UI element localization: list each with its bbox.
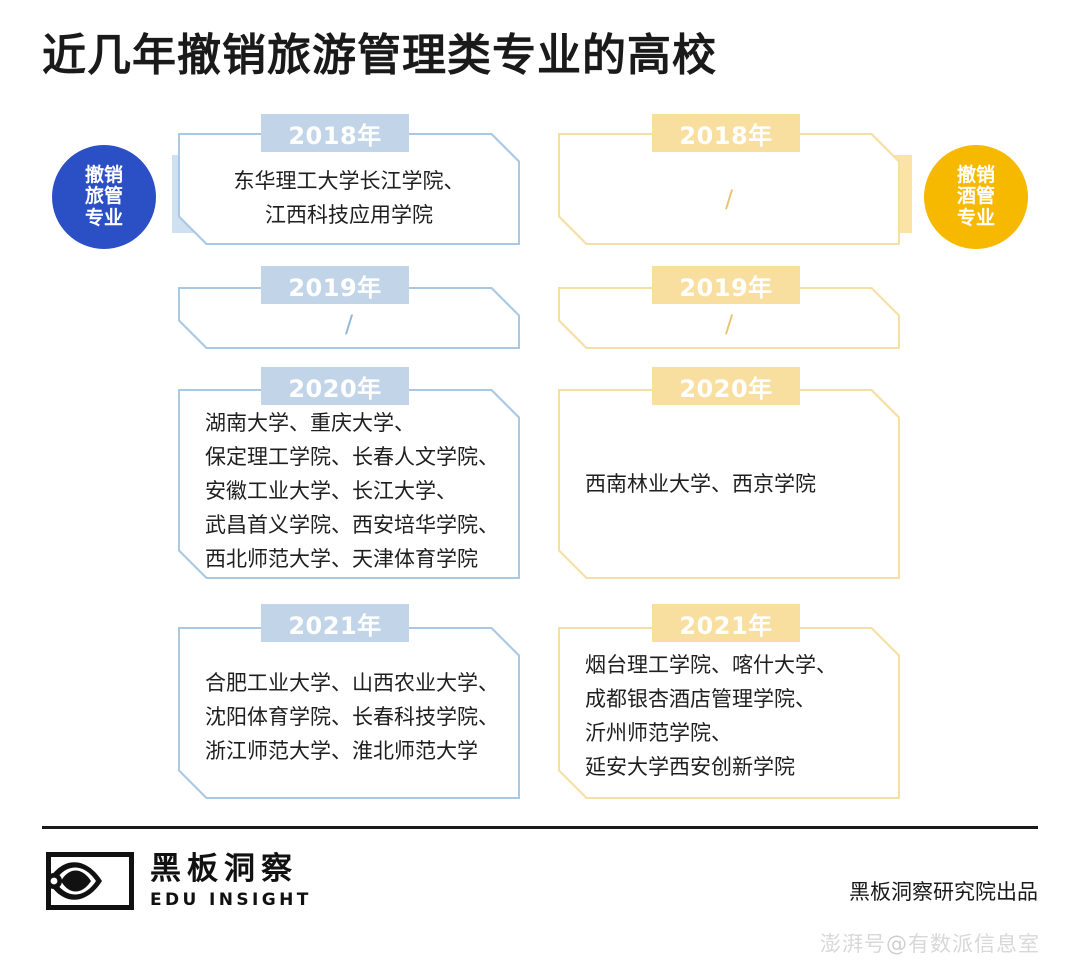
card-left-2019-placeholder: /	[345, 312, 353, 336]
card-right-2020: 西南林业大学、西京学院	[558, 389, 900, 579]
year-tab-right-2021: 2021年	[652, 604, 800, 642]
watermark-name: 有数派信息室	[908, 932, 1040, 956]
card-left-2020-line-1: 湖南大学、重庆大学、	[205, 406, 520, 440]
card-left-2021-line-3: 浙江师范大学、淮北师范大学	[205, 734, 520, 768]
year-tab-right-2020: 2020年	[652, 367, 800, 405]
card-left-2020: 湖南大学、重庆大学、 保定理工学院、长春人文学院、 安徽工业大学、长江大学、 武…	[178, 389, 520, 579]
card-left-2018-line-2: 江西科技应用学院	[265, 198, 433, 232]
year-tab-left-2019: 2019年	[261, 266, 409, 304]
watermark-at: @	[886, 932, 908, 956]
card-left-2020-line-5: 西北师范大学、天津体育学院	[205, 542, 520, 576]
watermark: 澎湃号@有数派信息室	[820, 928, 1040, 958]
year-tab-left-2021: 2021年	[261, 604, 409, 642]
badge-left-tourism-management: 撤销 旅管 专业	[52, 145, 156, 249]
card-right-2021: 烟台理工学院、喀什大学、 成都银杏酒店管理学院、 沂州师范学院、 延安大学西安创…	[558, 627, 900, 799]
card-left-2020-body: 湖南大学、重庆大学、 保定理工学院、长春人文学院、 安徽工业大学、长江大学、 武…	[178, 389, 520, 579]
brand-logo-text: 黑板洞察 EDU INSIGHT	[150, 854, 312, 909]
card-right-2020-line-1: 西南林业大学、西京学院	[585, 467, 900, 501]
card-right-2021-body: 烟台理工学院、喀什大学、 成都银杏酒店管理学院、 沂州师范学院、 延安大学西安创…	[558, 627, 900, 799]
badge-left-line-3: 专业	[85, 208, 123, 229]
card-left-2021: 合肥工业大学、山西农业大学、 沈阳体育学院、长春科技学院、 浙江师范大学、淮北师…	[178, 627, 520, 799]
watermark-prefix: 澎湃号	[820, 932, 886, 956]
footer-divider	[42, 826, 1038, 829]
card-right-2021-line-2: 成都银杏酒店管理学院、	[585, 682, 900, 716]
card-right-2019-placeholder: /	[725, 312, 733, 336]
badge-left-line-2: 旅管	[85, 186, 123, 207]
card-left-2021-body: 合肥工业大学、山西农业大学、 沈阳体育学院、长春科技学院、 浙江师范大学、淮北师…	[178, 627, 520, 799]
badge-right-hotel-management: 撤销 酒管 专业	[924, 145, 1028, 249]
card-left-2021-line-1: 合肥工业大学、山西农业大学、	[205, 666, 520, 700]
card-left-2018-line-1: 东华理工大学长江学院、	[234, 164, 465, 198]
badge-right-line-2: 酒管	[957, 186, 995, 207]
badge-right-line-3: 专业	[957, 208, 995, 229]
card-left-2020-line-3: 安徽工业大学、长江大学、	[205, 474, 520, 508]
badge-right-line-1: 撤销	[957, 165, 995, 186]
year-tab-left-2018: 2018年	[261, 114, 409, 152]
card-right-2020-body: 西南林业大学、西京学院	[558, 389, 900, 579]
year-tab-left-2020: 2020年	[261, 367, 409, 405]
card-left-2021-line-2: 沈阳体育学院、长春科技学院、	[205, 700, 520, 734]
eye-logo-icon	[46, 852, 134, 910]
card-right-2018-placeholder: /	[725, 187, 733, 211]
card-right-2021-line-4: 延安大学西安创新学院	[585, 750, 900, 784]
card-right-2021-line-3: 沂州师范学院、	[585, 716, 900, 750]
infographic-page: 近几年撤销旅游管理类专业的高校 撤销 旅管 专业 撤销 酒管 专业 东华理工大学…	[0, 0, 1080, 965]
brand-name-en: EDU INSIGHT	[150, 892, 312, 909]
timeline-board: 撤销 旅管 专业 撤销 酒管 专业 东华理工大学长江学院、 江西科技应用学院 2…	[0, 0, 1080, 965]
card-left-2020-line-2: 保定理工学院、长春人文学院、	[205, 440, 520, 474]
brand-logo: 黑板洞察 EDU INSIGHT	[46, 852, 312, 910]
brand-name-cn: 黑板洞察	[150, 854, 312, 885]
card-left-2020-line-4: 武昌首义学院、西安培华学院、	[205, 508, 520, 542]
year-tab-right-2018: 2018年	[652, 114, 800, 152]
footer-credit: 黑板洞察研究院出品	[849, 876, 1038, 906]
card-right-2021-line-1: 烟台理工学院、喀什大学、	[585, 648, 900, 682]
badge-left-line-1: 撤销	[85, 165, 123, 186]
year-tab-right-2019: 2019年	[652, 266, 800, 304]
